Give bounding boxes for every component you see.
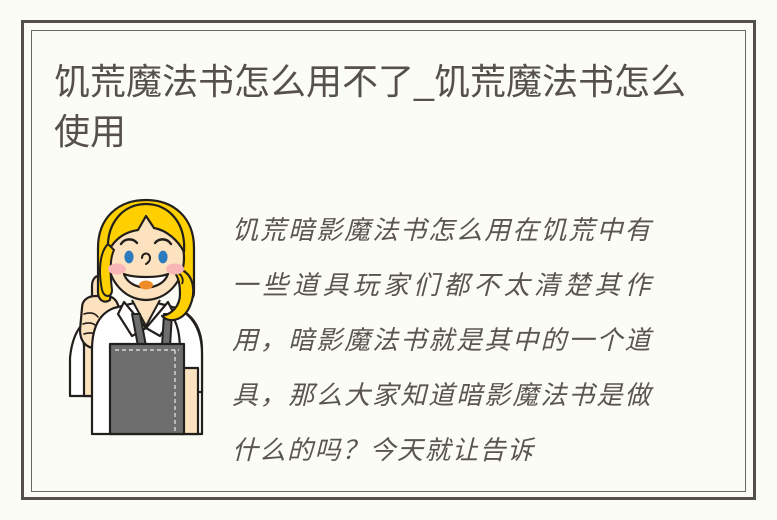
page-title: 饥荒魔法书怎么用不了_饥荒魔法书怎么使用 (54, 57, 694, 157)
article-page: 饥荒魔法书怎么用不了_饥荒魔法书怎么使用 (0, 0, 777, 520)
cartoon-girl-pointing-up-illustration (62, 196, 210, 436)
article-body: 饥荒暗影魔法书怎么用在饥荒中有一些道具玩家们都不太清楚其作用，暗影魔法书就是其中… (232, 204, 652, 479)
